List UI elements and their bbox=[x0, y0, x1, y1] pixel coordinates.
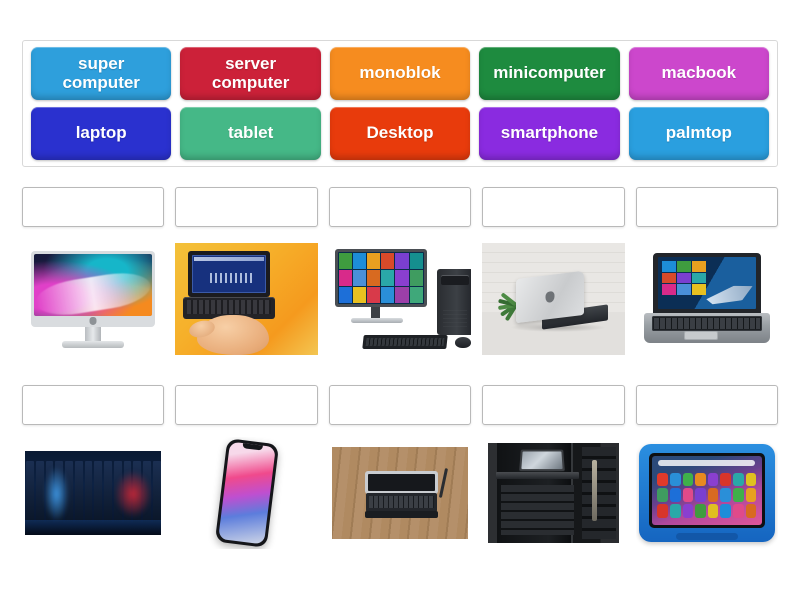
palmtop-in-hand-image bbox=[175, 243, 317, 355]
word-tile-label-line1: smartphone bbox=[501, 124, 598, 142]
word-tile-macbook[interactable]: macbook bbox=[629, 47, 769, 100]
handheld-terminal-image bbox=[329, 437, 471, 549]
drop-slot-1-2[interactable] bbox=[175, 187, 317, 227]
word-tile-label-line1: laptop bbox=[76, 124, 127, 142]
word-tile-monoblok[interactable]: monoblok bbox=[330, 47, 470, 100]
activity-canvas: super computer server computer monoblok … bbox=[0, 0, 800, 600]
macbook-on-desk-image bbox=[482, 243, 624, 355]
server-cabinet-image bbox=[482, 437, 624, 549]
drop-slot-row-2 bbox=[22, 385, 778, 425]
image-cell-2-2[interactable] bbox=[175, 437, 317, 549]
image-cell-2-1[interactable] bbox=[22, 437, 164, 549]
word-tile-laptop[interactable]: laptop bbox=[31, 107, 171, 160]
word-tile-minicomputer[interactable]: minicomputer bbox=[479, 47, 619, 100]
word-tile-server-computer[interactable]: server computer bbox=[180, 47, 320, 100]
drop-slot-2-4[interactable] bbox=[482, 385, 624, 425]
word-tile-label-line2: computer bbox=[62, 74, 139, 92]
drop-slot-1-3[interactable] bbox=[329, 187, 471, 227]
word-tile-label-line1: macbook bbox=[662, 64, 737, 82]
word-tile-tablet[interactable]: tablet bbox=[180, 107, 320, 160]
kids-tablet-image bbox=[636, 437, 778, 549]
word-tile-label-line1: tablet bbox=[228, 124, 273, 142]
image-cell-1-5[interactable] bbox=[636, 243, 778, 355]
image-row-2 bbox=[22, 437, 778, 549]
word-tile-label-line1: server bbox=[212, 55, 289, 73]
word-tile-label-line1: palmtop bbox=[666, 124, 732, 142]
drop-slot-2-2[interactable] bbox=[175, 385, 317, 425]
word-bank-row-1: super computer server computer monoblok … bbox=[31, 47, 769, 100]
drop-slot-1-1[interactable] bbox=[22, 187, 164, 227]
desktop-pc-set-image bbox=[329, 243, 471, 355]
word-tile-label-line2: computer bbox=[212, 74, 289, 92]
smartphone-image bbox=[175, 437, 317, 549]
supercomputer-datacenter-image bbox=[22, 437, 164, 549]
image-row-1 bbox=[22, 243, 778, 355]
word-tile-label-line1: super bbox=[62, 55, 139, 73]
word-bank: super computer server computer monoblok … bbox=[22, 40, 778, 167]
image-cell-2-4[interactable] bbox=[482, 437, 624, 549]
image-cell-1-1[interactable] bbox=[22, 243, 164, 355]
drop-slot-2-1[interactable] bbox=[22, 385, 164, 425]
imac-all-in-one-image bbox=[22, 243, 164, 355]
word-tile-label-line1: monoblok bbox=[359, 64, 440, 82]
drop-slot-1-5[interactable] bbox=[636, 187, 778, 227]
word-tile-super-computer[interactable]: super computer bbox=[31, 47, 171, 100]
drop-slot-2-5[interactable] bbox=[636, 385, 778, 425]
word-tile-smartphone[interactable]: smartphone bbox=[479, 107, 619, 160]
word-tile-label-line1: minicomputer bbox=[493, 64, 605, 82]
drop-slot-1-4[interactable] bbox=[482, 187, 624, 227]
image-cell-1-3[interactable] bbox=[329, 243, 471, 355]
word-tile-desktop[interactable]: Desktop bbox=[330, 107, 470, 160]
image-cell-2-5[interactable] bbox=[636, 437, 778, 549]
word-tile-label-line1: Desktop bbox=[366, 124, 433, 142]
word-bank-row-2: laptop tablet Desktop smartphone palmtop bbox=[31, 107, 769, 160]
image-cell-2-3[interactable] bbox=[329, 437, 471, 549]
drop-slot-2-3[interactable] bbox=[329, 385, 471, 425]
image-cell-1-2[interactable] bbox=[175, 243, 317, 355]
image-cell-1-4[interactable] bbox=[482, 243, 624, 355]
windows-laptop-image bbox=[636, 243, 778, 355]
word-tile-palmtop[interactable]: palmtop bbox=[629, 107, 769, 160]
drop-slot-row-1 bbox=[22, 187, 778, 227]
